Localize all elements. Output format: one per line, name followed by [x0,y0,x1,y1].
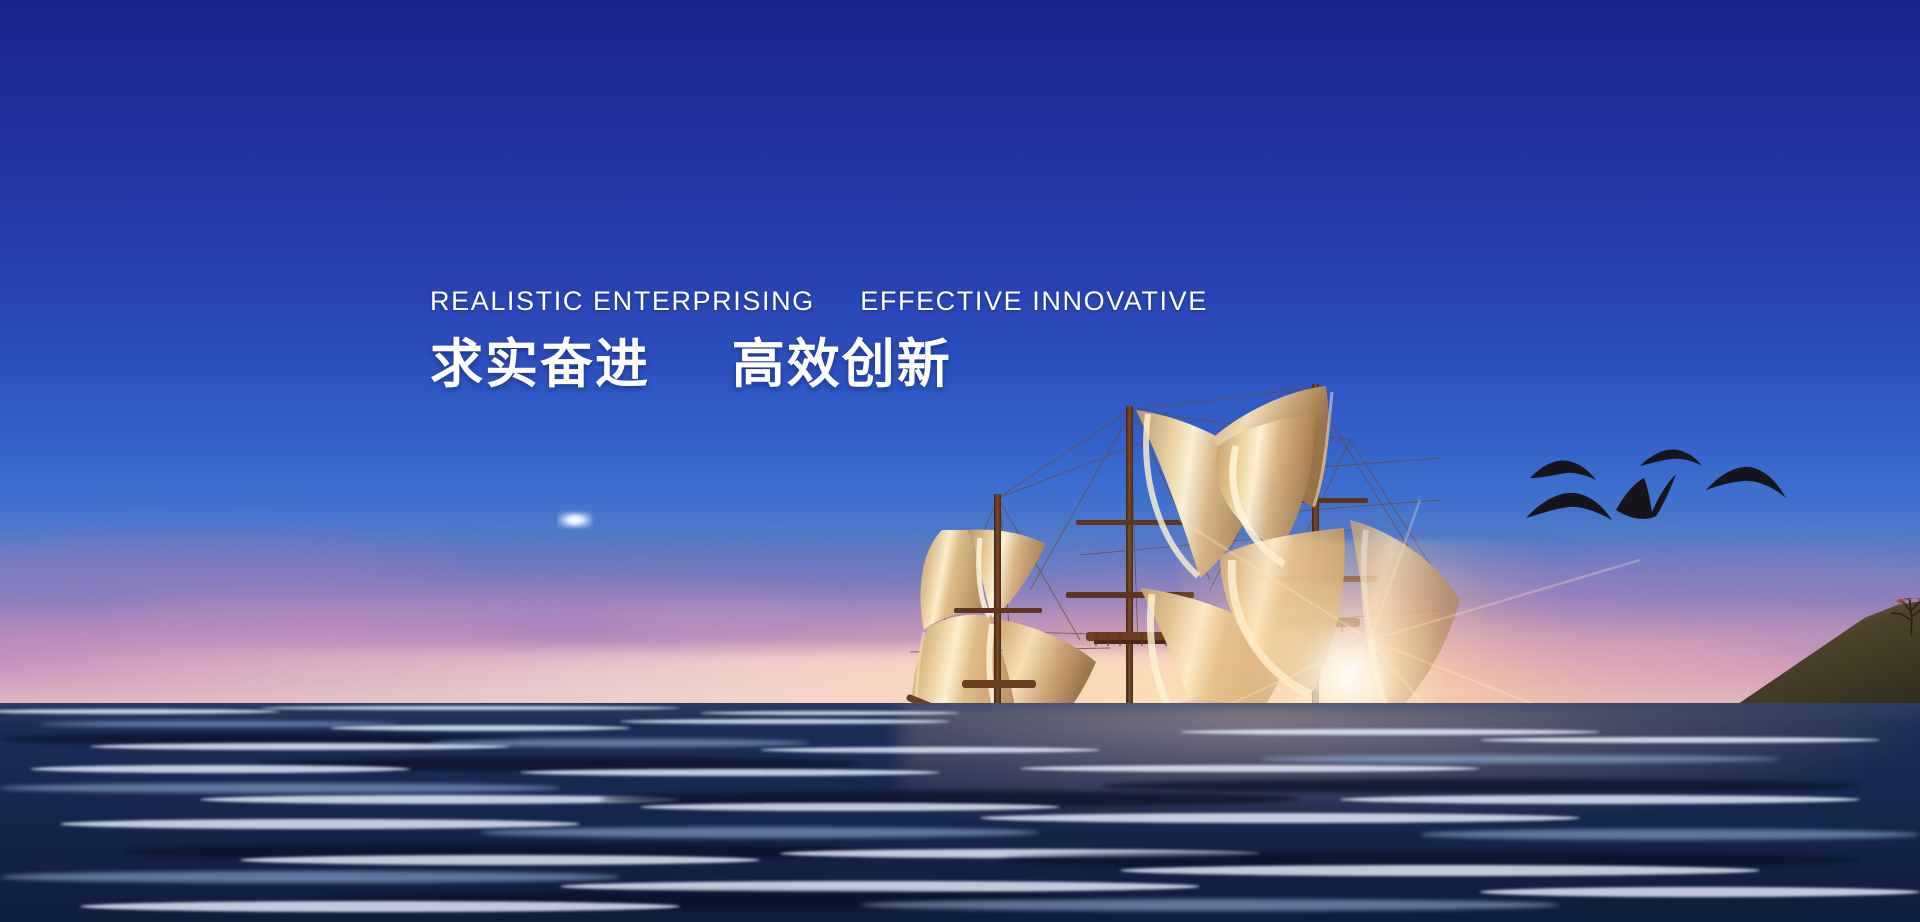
bird-icon [1640,450,1702,466]
sea-water [0,703,1920,922]
hero-banner: REALISTIC ENTERPRISING EFFECTIVE INNOVAT… [0,0,1920,922]
star-icon [558,512,592,528]
lone-tree-icon [1881,598,1920,636]
bird-icon [1616,474,1676,519]
water-sun-reflection [900,703,1920,823]
tagline-text: REALISTIC ENTERPRISING EFFECTIVE INNOVAT… [430,288,1330,315]
banner-copy: REALISTIC ENTERPRISING EFFECTIVE INNOVAT… [430,288,1330,393]
far-sail [1350,520,1460,722]
bird-icon [1530,461,1596,480]
bird-icon [1526,493,1612,520]
bird-flock [1520,440,1820,555]
headline-text: 求实奋进 高效创新 [430,336,1330,393]
island-headland [1735,598,1920,706]
bird-icon [1706,467,1786,498]
